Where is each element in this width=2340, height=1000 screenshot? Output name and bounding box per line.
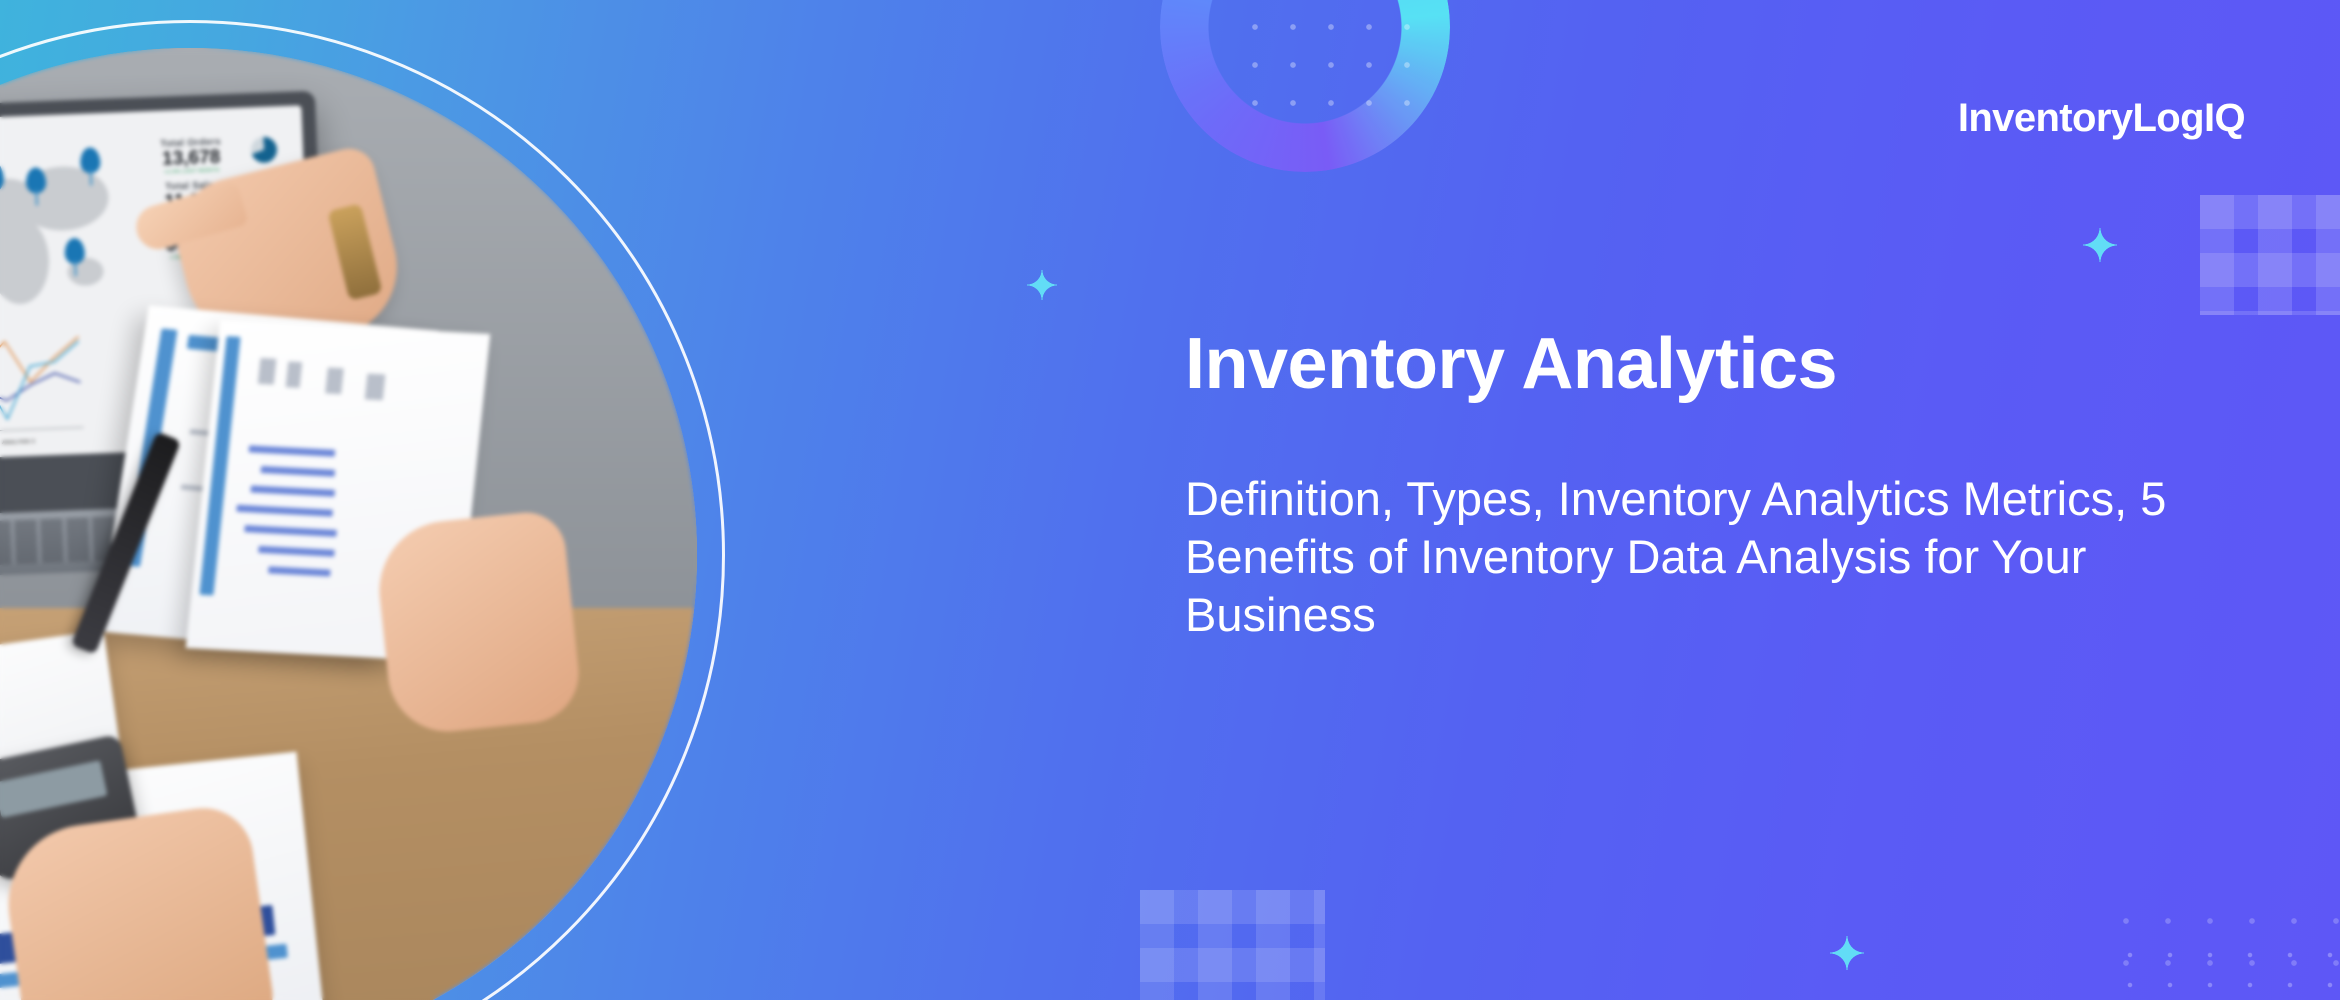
square-grid-bottom-decoration xyxy=(1140,890,1325,1000)
brand-logo[interactable]: InventoryLogIQ xyxy=(1958,96,2245,141)
photo-circle-mask: WORLD TRAFFIC Total Orders xyxy=(0,48,697,1000)
page-subtitle: Definition, Types, Inventory Analytics M… xyxy=(1185,470,2225,643)
hero-photo: WORLD TRAFFIC Total Orders xyxy=(0,20,725,1000)
dot-grid-top-decoration xyxy=(1236,8,1421,126)
sparkle-icon xyxy=(1830,936,1864,970)
hero-banner: WORLD TRAFFIC Total Orders xyxy=(0,0,2340,1000)
dot-grid-corner-decoration xyxy=(2110,940,2340,1000)
dot-grid-bottom-right-decoration xyxy=(2105,900,2340,1000)
square-grid-right-decoration xyxy=(2200,195,2340,315)
sparkle-icon xyxy=(1027,270,1057,300)
sparkle-icon xyxy=(2083,228,2117,262)
gradient-ring-decoration xyxy=(1160,0,1450,172)
page-title: Inventory Analytics xyxy=(1185,328,1837,400)
photo-blur-overlay xyxy=(0,48,697,1000)
